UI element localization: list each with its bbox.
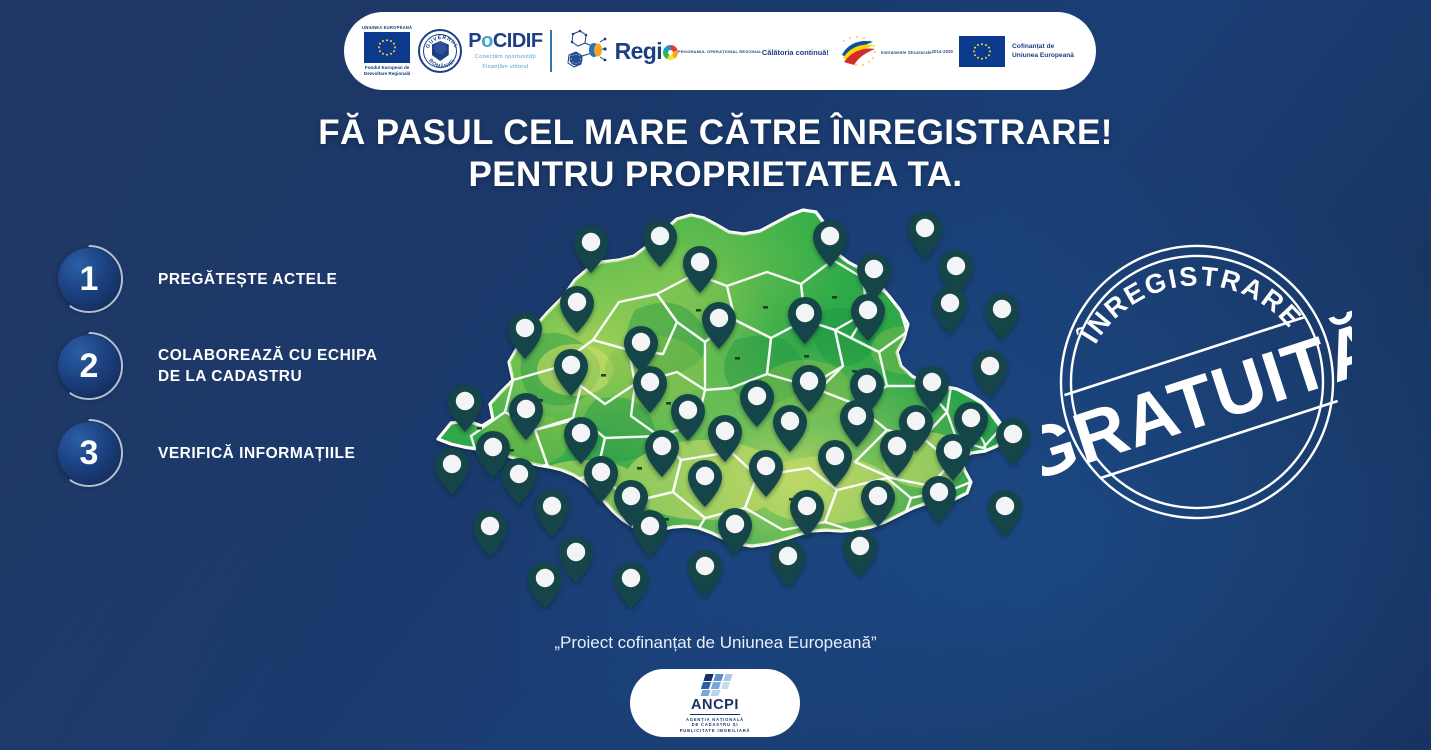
logo-ancpi: ANCPI AGENȚIA NAȚIONALĂ DE CADASTRU ȘI P…: [630, 669, 800, 737]
step-number-badge-1: 1: [58, 248, 120, 310]
map-pin-dot: [798, 497, 816, 515]
romania-government-seal-icon: GUVERNUL ROMÂNIEI: [418, 29, 462, 73]
regio-program-text: PROGRAMUL OPERAȚIONAL REGIONAL: [678, 49, 762, 54]
map-pin-dot: [907, 412, 925, 430]
map-pin-dot: [962, 409, 980, 427]
ancpi-subtitle: AGENȚIA NAȚIONALĂ DE CADASTRU ȘI PUBLICI…: [680, 717, 751, 733]
color-wheel-icon: [663, 45, 678, 60]
map-pin-dot: [781, 412, 799, 430]
map-pin-dot: [641, 517, 659, 535]
logo-instrumente-structurale: Instrumente Structurale 2014-2020: [835, 34, 953, 68]
map-pin-dot: [517, 400, 535, 418]
map-pin-dot: [510, 465, 528, 483]
step-label-1-line1: PREGĂTEȘTE ACTELE: [158, 269, 337, 290]
map-pin-dot: [930, 483, 948, 501]
map-pin-dot: [796, 304, 814, 322]
step-item-3: 3 VERIFICĂ INFORMAȚIILE: [58, 422, 458, 484]
ancpi-chevron-mark-icon: [694, 673, 736, 697]
map-pin-dot: [888, 437, 906, 455]
pocidif-divider: [550, 30, 552, 72]
map-pin-dot: [859, 301, 877, 319]
map-pin-dot: [716, 422, 734, 440]
map-pin-dot: [567, 543, 585, 561]
map-pin-dot: [748, 387, 766, 405]
logo-cofinantat-ue: Cofinanțat de Uniunea Europeană: [959, 36, 1074, 67]
ancpi-wordmark: ANCPI: [690, 698, 740, 715]
pocidif-name-p2: o: [481, 30, 493, 52]
map-pin-dot: [572, 424, 590, 442]
map-pin-dot: [941, 294, 959, 312]
map-pin-dot: [944, 441, 962, 459]
step-label-1: PREGĂTEȘTE ACTELE: [158, 269, 337, 290]
map-pin-dot: [622, 569, 640, 587]
step-number-badge-2: 2: [58, 335, 120, 397]
map-pin-dot: [484, 438, 502, 456]
status-badge: ÎNREGISTRARE GRATUITĂ: [1042, 232, 1352, 532]
poster-canvas: UNIUNEA EUROPEANĂ Fondul European de Dez…: [0, 0, 1431, 750]
cofinantat-line1: Cofinanțat de: [1012, 42, 1074, 51]
map-pin-dot: [710, 309, 728, 327]
logo-government-of-romania: GUVERNUL ROMÂNIEI: [418, 29, 462, 73]
map-pin-dot: [622, 487, 640, 505]
map-pin-dot: [641, 373, 659, 391]
romania-flag-swoosh-icon: [835, 34, 881, 68]
eu-flag-icon: [959, 36, 1005, 67]
step-label-2: COLABOREAZĂ CU ECHIPA DE LA CADASTRU: [158, 345, 377, 387]
step-label-3: VERIFICĂ INFORMAȚIILE: [158, 443, 355, 464]
map-pin-dot: [679, 401, 697, 419]
logo-eu-fedr: UNIUNEA EUROPEANĂ Fondul European de Dez…: [362, 25, 412, 77]
map-pin-dot: [858, 375, 876, 393]
pocidif-name-p1: P: [468, 30, 481, 52]
cofinantat-line2: Uniunea Europeană: [1012, 51, 1074, 60]
pocidif-name-p3: CIDIF: [493, 30, 543, 52]
map-pin-dot: [800, 372, 818, 390]
map-pin-dot: [562, 356, 580, 374]
ancpi-subtitle-l3: PUBLICITATE IMOBILIARĂ: [680, 728, 751, 733]
logo-pocidif: PoCIDIF Conectăm oportunități Finanțăm v…: [468, 28, 608, 74]
page-title: FĂ PASUL CEL MARE CĂTRE ÎNREGISTRARE! PE…: [0, 112, 1431, 196]
svg-text:ROMÂNIEI: ROMÂNIEI: [427, 58, 457, 70]
map-pin-dot: [691, 253, 709, 271]
step-number-1: 1: [80, 262, 99, 296]
funding-logo-bar: UNIUNEA EUROPEANĂ Fondul European de Dez…: [344, 12, 1096, 90]
headline-line2: PENTRU PROPRIETATEA TA.: [0, 154, 1431, 196]
map-pin-dot: [582, 233, 600, 251]
map-pin-dot: [865, 260, 883, 278]
eu-fedr-top-caption: UNIUNEA EUROPEANĂ: [362, 25, 412, 30]
step-label-2-line2: DE LA CADASTRU: [158, 366, 377, 387]
map-pin-dot: [826, 447, 844, 465]
step-label-3-line1: VERIFICĂ INFORMAȚIILE: [158, 443, 355, 464]
headline-line1: FĂ PASUL CEL MARE CĂTRE ÎNREGISTRARE!: [0, 112, 1431, 154]
map-pin-dot: [757, 457, 775, 475]
map-pin-dot: [1004, 425, 1022, 443]
map-pin-dot: [651, 227, 669, 245]
map-pin-dot: [981, 357, 999, 375]
step-item-1: 1 PREGĂTEȘTE ACTELE: [58, 248, 458, 310]
map-pin-dot: [923, 373, 941, 391]
instrumente-line1: Instrumente Structurale: [881, 50, 932, 55]
map-pin-dot: [696, 467, 714, 485]
map-pin-dot: [543, 497, 561, 515]
free-registration-stamp-icon: ÎNREGISTRARE GRATUITĂ: [1042, 232, 1352, 532]
map-pin-dot: [916, 219, 934, 237]
pocidif-tagline-l2: Finanțăm viitorul: [468, 63, 542, 71]
project-caption: „Proiect cofinanțat de Uniunea Europeană…: [0, 633, 1431, 653]
map-pin-dot: [456, 392, 474, 410]
map-pin-dot: [536, 569, 554, 587]
eu-flag-icon: [364, 32, 410, 63]
instrumente-line2: 2014-2020: [932, 49, 953, 54]
eu-fedr-bottom-caption: Fondul European de Dezvoltare Regională: [364, 65, 410, 77]
map-pin-dot: [848, 407, 866, 425]
molecule-network-icon: [559, 28, 609, 74]
eu-fedr-caption-l2: Dezvoltare Regională: [364, 71, 410, 77]
map-pin-dot: [592, 463, 610, 481]
map-pin-dot: [632, 333, 650, 351]
regio-wordmark: Regi: [615, 38, 662, 64]
map-pin-dot: [653, 437, 671, 455]
step-number-badge-3: 3: [58, 422, 120, 484]
map-pin-dot: [726, 515, 744, 533]
map-pin-dot: [481, 517, 499, 535]
map-pin-dot: [851, 537, 869, 555]
map-pin-dot: [996, 497, 1014, 515]
pocidif-tagline-l1: Conectăm oportunități: [468, 53, 542, 61]
step-number-2: 2: [80, 349, 99, 383]
romania-map: [405, 190, 1035, 610]
step-label-2-line1: COLABOREAZĂ CU ECHIPA: [158, 345, 377, 366]
map-pin-dot: [779, 547, 797, 565]
steps-list: 1 PREGĂTEȘTE ACTELE 2 COLABOREAZĂ CU ECH…: [58, 248, 458, 509]
step-item-2: 2 COLABOREAZĂ CU ECHIPA DE LA CADASTRU: [58, 335, 458, 397]
map-pin-dot: [516, 319, 534, 337]
logo-regio: Regi PROGRAMUL OPERAȚIONAL REGIONAL Călă…: [615, 40, 829, 63]
romania-map-svg: [405, 190, 1035, 610]
map-pin-dot: [696, 557, 714, 575]
pocidif-wordmark: PoCIDIF: [468, 31, 542, 51]
regio-tagline: Călătoria continuă!: [762, 48, 829, 57]
map-pin-dot: [821, 227, 839, 245]
map-pin-dot: [568, 293, 586, 311]
map-pin-dot: [947, 257, 965, 275]
step-number-3: 3: [80, 436, 99, 470]
map-pin-dot: [993, 300, 1011, 318]
map-pin-dot: [869, 487, 887, 505]
